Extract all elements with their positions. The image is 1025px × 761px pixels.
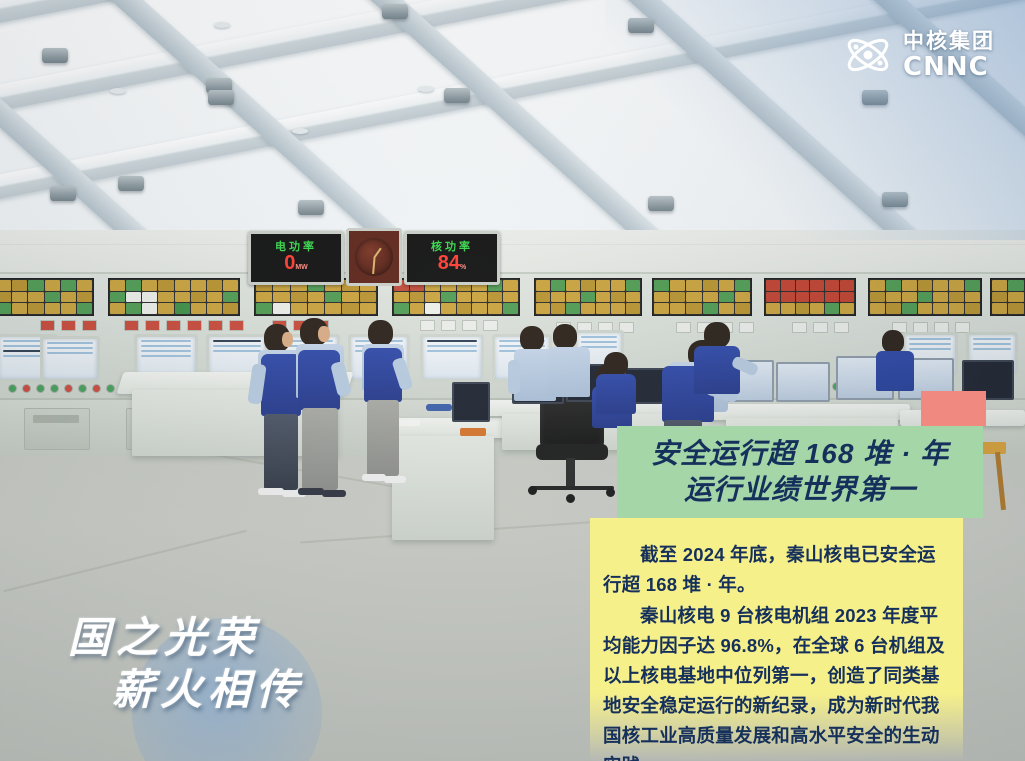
person-legs — [302, 408, 338, 490]
center-desk-body — [392, 436, 494, 540]
indicator-lamp-row[interactable] — [892, 322, 970, 331]
office-chair-post — [566, 458, 575, 488]
annunciator-panel[interactable] — [108, 278, 240, 316]
ceiling-downlight — [42, 48, 68, 63]
person-arm — [508, 360, 520, 394]
smoke-detector-icon — [418, 86, 434, 92]
indicator-lamp-row[interactable] — [124, 320, 244, 329]
headline-banner: 安全运行超 168 堆 · 年 运行业绩世界第一 — [617, 426, 983, 518]
ceiling-downlight — [444, 88, 470, 103]
switch-row[interactable] — [8, 384, 115, 393]
person-face — [282, 332, 293, 347]
ceiling-downlight — [648, 196, 674, 211]
person-head — [882, 330, 904, 353]
person-shoe — [258, 488, 284, 495]
person-vest — [596, 374, 636, 414]
workstation-monitor[interactable] — [776, 362, 830, 402]
logo-wordmark: 中核集团 CNNC — [903, 31, 995, 80]
annunciator-panel[interactable] — [652, 278, 752, 316]
clock-face — [355, 238, 393, 276]
smoke-detector-icon — [292, 128, 308, 134]
ceiling-downlight — [50, 186, 76, 201]
nuclear-power-value: 84% — [438, 253, 466, 274]
chair-caster — [528, 486, 537, 495]
headline-line-2: 运行业绩世界第一 — [684, 473, 916, 507]
ceiling-downlight — [882, 192, 908, 207]
person-legs — [264, 414, 298, 490]
person-vest — [694, 346, 740, 394]
electric-power-label: 电功率 — [275, 242, 317, 253]
body-paragraph-2: 秦山核电 9 台核电机组 2023 年度平均能力因子达 96.8%，在全球 6 … — [603, 601, 950, 761]
indicator-lamp-row[interactable] — [792, 322, 849, 331]
ceiling-downlight — [208, 90, 234, 105]
logo-chinese-name: 中核集团 — [903, 31, 995, 52]
smoke-detector-icon — [110, 88, 126, 94]
desk-paper — [398, 420, 420, 426]
atom-icon — [843, 30, 893, 80]
poster-canvas: 电功率 0MW 核功率 84% — [0, 0, 1025, 761]
person-shirt — [548, 347, 590, 397]
electric-power-display: 电功率 0MW — [248, 231, 344, 285]
ceiling-downlight — [628, 18, 654, 33]
person-shoe — [384, 476, 406, 483]
person-shoe — [298, 488, 324, 495]
annunciator-panel[interactable] — [0, 278, 94, 316]
person-head — [520, 326, 544, 351]
desk-tool-tray — [460, 428, 486, 436]
clock-hour-hand — [373, 248, 382, 259]
office-chair-base — [530, 486, 614, 490]
person-head — [553, 324, 577, 349]
person-head — [704, 322, 730, 348]
body-paragraph-1: 截至 2024 年底，秦山核电已安全运行超 168 堆 · 年。 — [603, 540, 950, 600]
indicator-lamp-row[interactable] — [40, 320, 97, 329]
wall-clock — [346, 228, 402, 286]
annunciator-panel[interactable] — [534, 278, 642, 316]
logo-english-name: CNNC — [903, 54, 995, 80]
headline-line-1: 安全运行超 168 堆 · 年 — [651, 437, 949, 471]
control-screen[interactable] — [420, 334, 484, 382]
nuclear-power-display: 核功率 84% — [404, 231, 500, 285]
annunciator-panel[interactable] — [990, 278, 1025, 316]
ceiling-downlight — [118, 176, 144, 191]
indicator-lamp-row[interactable] — [420, 320, 498, 329]
desk-cable-bundle — [426, 404, 452, 411]
electric-power-value: 0MW — [284, 253, 308, 274]
person-shoe — [322, 490, 346, 497]
cabinet-door[interactable] — [24, 408, 90, 450]
person-shoe — [362, 474, 386, 481]
control-screen[interactable] — [40, 336, 100, 382]
person-head — [604, 352, 628, 376]
clock-minute-hand — [372, 258, 375, 274]
person-face — [318, 326, 330, 342]
cnnc-logo: 中核集团 CNNC — [843, 30, 995, 80]
body-text-box: 截至 2024 年底，秦山核电已安全运行超 168 堆 · 年。 秦山核电 9 … — [590, 518, 963, 761]
annunciator-panel[interactable] — [868, 278, 982, 316]
ceiling-downlight — [862, 90, 888, 105]
wall-seam — [0, 244, 1025, 245]
person-shirt — [876, 351, 914, 391]
ceiling-downlight — [382, 4, 408, 19]
annunciator-panel[interactable] — [764, 278, 856, 316]
desk-equipment-monitor[interactable] — [452, 382, 490, 422]
person-vest — [261, 354, 301, 416]
ceiling-downlight — [298, 200, 324, 215]
person-head — [368, 320, 393, 346]
chair-caster — [566, 494, 575, 503]
smoke-detector-icon — [214, 22, 230, 28]
person-legs — [367, 400, 399, 476]
pink-accent-block — [921, 391, 986, 426]
chair-caster — [606, 488, 615, 497]
